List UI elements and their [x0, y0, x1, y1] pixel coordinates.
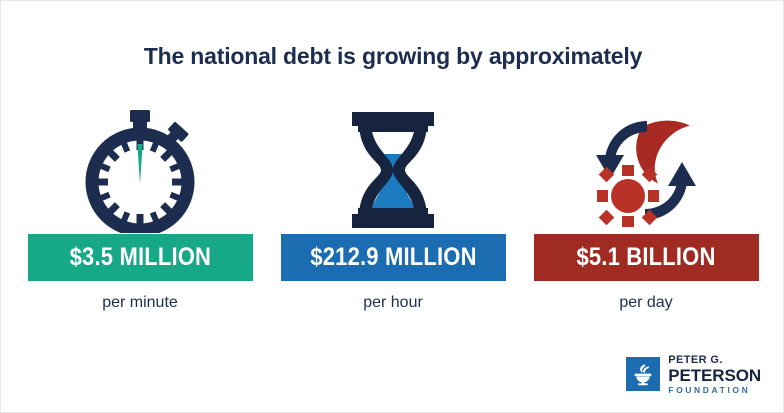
stopwatch-icon [81, 106, 199, 234]
logo-line-three: FOUNDATION [668, 386, 761, 395]
metric-unit: per day [619, 294, 672, 312]
metric-card-group: $3.5 MILLION per minute [1, 106, 784, 312]
day-night-cycle-icon [580, 106, 712, 234]
peterson-foundation-logo[interactable]: PETER G. PETERSON FOUNDATION [626, 355, 761, 395]
metric-value: $212.9 MILLION [310, 243, 476, 272]
logo-line-one: PETER G. [668, 355, 761, 366]
metric-card: $3.5 MILLION per minute [28, 106, 253, 312]
metric-unit: per minute [102, 294, 178, 312]
metric-value: $5.1 BILLION [576, 243, 715, 272]
page-title: The national debt is growing by approxim… [1, 43, 784, 70]
torch-flame-icon [626, 357, 660, 391]
metric-value-box: $212.9 MILLION [281, 234, 506, 281]
metric-unit: per hour [363, 294, 423, 312]
metric-value-box: $3.5 MILLION [28, 234, 253, 281]
metric-card: $212.9 MILLION per hour [281, 106, 506, 312]
logo-line-two: PETERSON [668, 367, 761, 384]
metric-value-box: $5.1 BILLION [534, 234, 759, 281]
metric-card: $5.1 BILLION per day [534, 106, 759, 312]
hourglass-icon [337, 106, 449, 234]
infographic-canvas: The national debt is growing by approxim… [0, 0, 784, 413]
metric-value: $3.5 MILLION [69, 243, 210, 272]
logo-wordmark: PETER G. PETERSON FOUNDATION [668, 355, 761, 395]
